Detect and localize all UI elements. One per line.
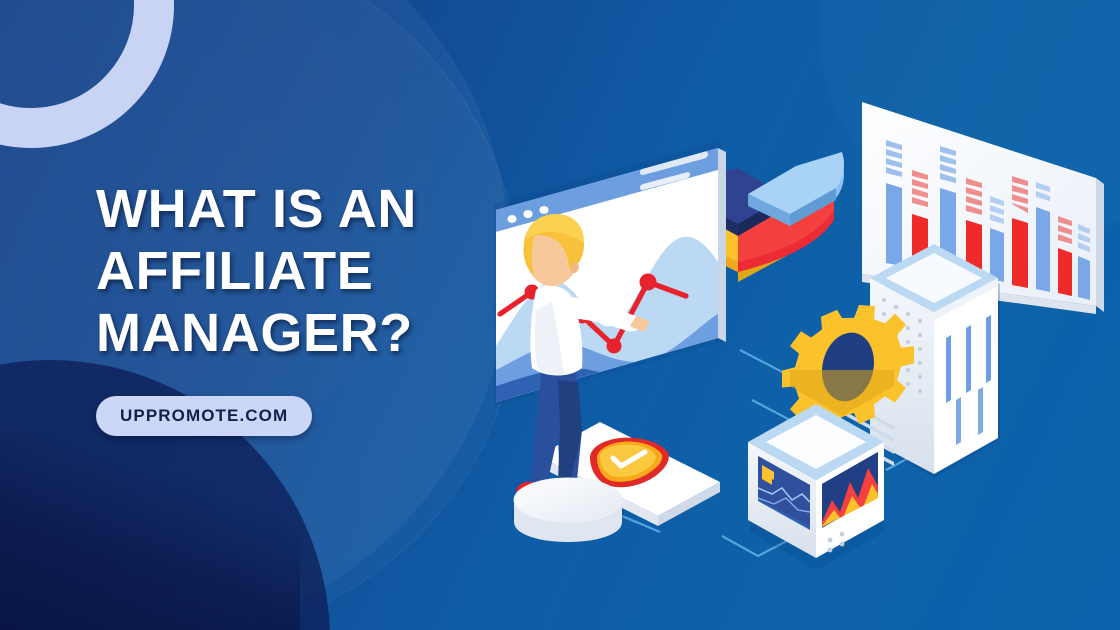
headline-line-3: MANAGER? — [96, 302, 526, 364]
dashboard-screen — [494, 140, 726, 406]
decorative-wedge-bottomleft — [0, 430, 300, 630]
page-title: WHAT IS AN AFFILIATE MANAGER? — [96, 178, 526, 364]
headline-line-1: WHAT IS AN — [96, 178, 526, 240]
headline-line-2: AFFILIATE — [96, 240, 526, 302]
banner-root: WHAT IS AN AFFILIATE MANAGER? UPPROMOTE.… — [0, 0, 1120, 630]
brand-badge[interactable]: UPPROMOTE.COM — [96, 396, 312, 436]
pedestal — [514, 478, 622, 542]
data-cube — [748, 404, 884, 570]
isometric-analytics-illustration — [490, 70, 1120, 570]
decorative-ring-topleft — [0, 0, 174, 148]
brand-badge-label: UPPROMOTE.COM — [120, 406, 288, 426]
